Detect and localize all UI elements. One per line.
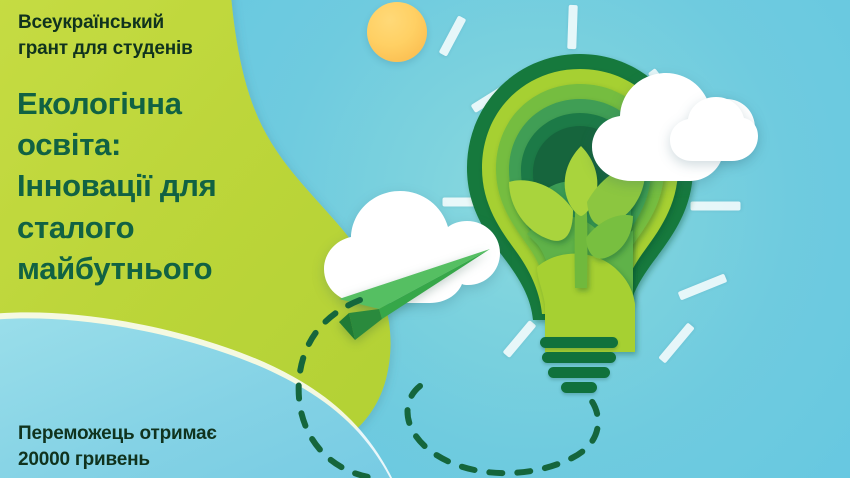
page-title: Екологічна освіта: Інновації для сталого… [17,83,216,289]
prize-text: Переможець отримає 20000 гривень [18,421,217,473]
paper-plane-icon [327,247,492,342]
bulb-base-icon [540,337,630,397]
sun-icon [367,2,427,62]
kicker-text: Всеукраїнський грант для студенів [18,10,193,61]
poster-canvas: Всеукраїнський грант для студенів Еколог… [0,0,850,478]
cloud-bottom-right-icon [668,95,760,165]
light-ray-2 [567,5,578,49]
